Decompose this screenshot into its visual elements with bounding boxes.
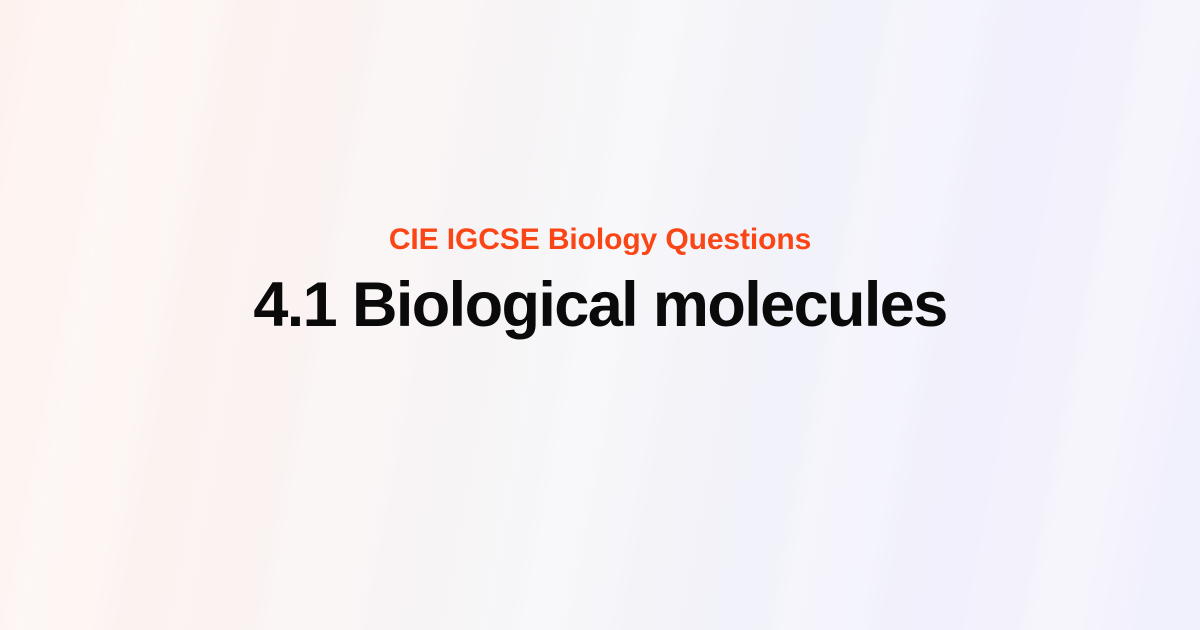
eyebrow-subtitle: CIE IGCSE Biology Questions [0, 223, 1200, 256]
og-card: CIE IGCSE Biology Questions 4.1 Biologic… [0, 0, 1200, 630]
page-title: 4.1 Biological molecules [0, 270, 1200, 341]
card-content: CIE IGCSE Biology Questions 4.1 Biologic… [0, 223, 1200, 407]
